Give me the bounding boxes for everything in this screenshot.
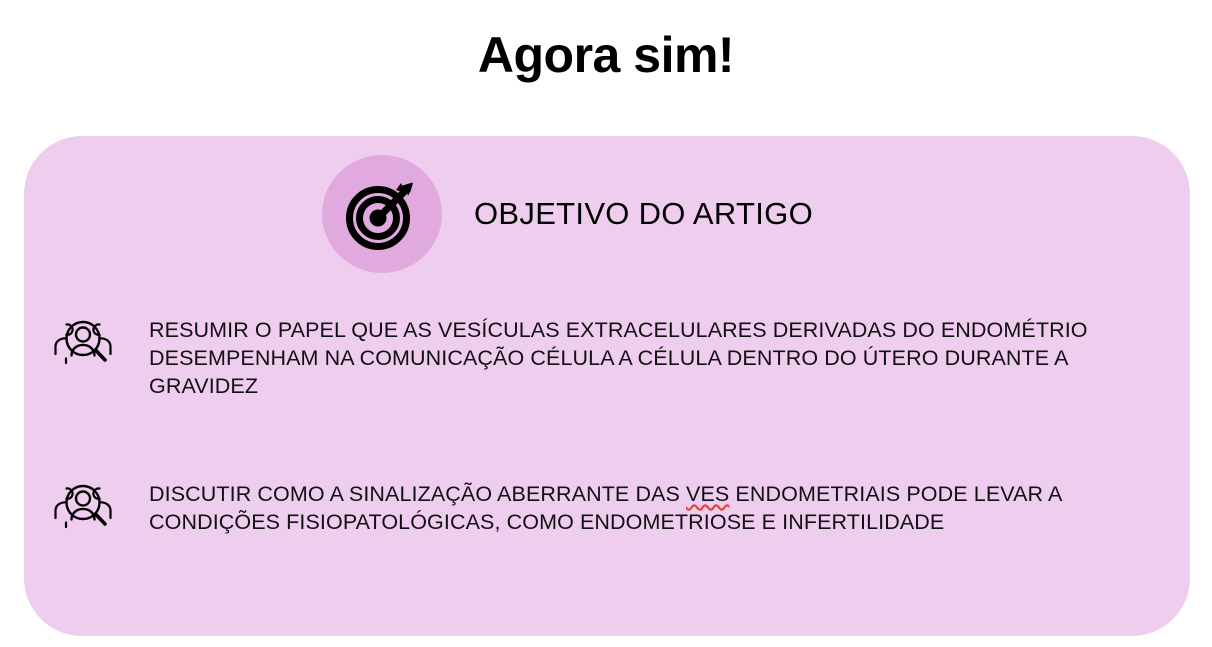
- list-item-text: RESUMIR O PAPEL QUE AS VESÍCULAS EXTRACE…: [149, 316, 1182, 400]
- card-header: OBJETIVO DO ARTIGO: [322, 155, 813, 273]
- objective-badge: [322, 155, 442, 273]
- list-item: DISCUTIR COMO A SINALIZAÇÃO ABERRANTE DA…: [52, 480, 1182, 536]
- objective-card: OBJETIVO DO ARTIGO: [24, 136, 1190, 636]
- list-item-text: DISCUTIR COMO A SINALIZAÇÃO ABERRANTE DA…: [149, 480, 1182, 536]
- slide-canvas: Agora sim! OBJETIVO DO ARTIGO: [0, 0, 1212, 647]
- people-search-icon: [52, 317, 114, 367]
- target-dartboard-arrow-icon: [344, 176, 420, 252]
- list-item: RESUMIR O PAPEL QUE AS VESÍCULAS EXTRACE…: [52, 316, 1182, 400]
- people-search-icon: [52, 481, 114, 531]
- list-item-text-part-1: DISCUTIR COMO A SINALIZAÇÃO ABERRANTE DA…: [149, 482, 686, 506]
- card-heading: OBJETIVO DO ARTIGO: [474, 196, 813, 232]
- objective-bullet-list: RESUMIR O PAPEL QUE AS VESÍCULAS EXTRACE…: [52, 316, 1182, 536]
- page-title: Agora sim!: [0, 30, 1212, 80]
- spellcheck-misspelled-word: VES: [686, 482, 729, 506]
